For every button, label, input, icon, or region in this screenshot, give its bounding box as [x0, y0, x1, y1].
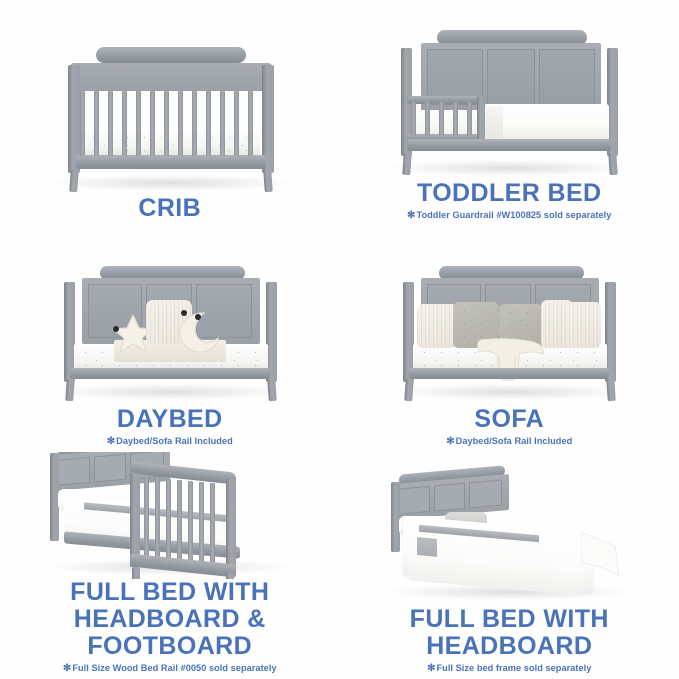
asterisk-icon: ✻	[427, 663, 435, 674]
sofa-illustration	[340, 226, 679, 406]
conversion-cell-daybed: DAYBED ✻Daybed/Sofa Rail Included	[0, 226, 340, 452]
crib-illustration	[0, 0, 340, 195]
daybed-illustration	[0, 226, 340, 406]
crib-caption: CRIB	[0, 195, 340, 226]
asterisk-icon: ✻	[63, 663, 71, 674]
conversion-cell-crib: CRIB	[0, 0, 340, 226]
toddler-bed-illustration	[340, 0, 679, 180]
conversion-chart: CRIB	[0, 0, 679, 679]
full-bed-headboard-footboard-note-text: Full Size Wood Bed Rail #0050 sold separ…	[72, 663, 276, 673]
sofa-note: ✻Daybed/Sofa Rail Included	[340, 436, 679, 449]
full-bed-headboard-illustration	[340, 452, 679, 606]
full-bed-headboard-footboard-illustration	[0, 452, 340, 579]
daybed-title: DAYBED	[0, 406, 340, 433]
conversion-cell-full-bed-headboard: FULL BED WITH HEADBOARD ✻Full Size bed f…	[340, 452, 679, 679]
full-bed-headboard-footboard-note: ✻Full Size Wood Bed Rail #0050 sold sepa…	[0, 663, 340, 676]
conversion-cell-sofa: SOFA ✻Daybed/Sofa Rail Included	[340, 226, 679, 452]
asterisk-icon: ✻	[107, 436, 115, 447]
daybed-caption: DAYBED ✻Daybed/Sofa Rail Included	[0, 406, 340, 453]
conversion-cell-toddler-bed: TODDLER BED ✻Toddler Guardrail #W100825 …	[340, 0, 679, 226]
sofa-title: SOFA	[340, 406, 679, 433]
sofa-caption: SOFA ✻Daybed/Sofa Rail Included	[340, 406, 679, 453]
moon-pillow	[174, 310, 220, 354]
sofa-pillow	[565, 302, 601, 348]
toddler-bed-caption: TODDLER BED ✻Toddler Guardrail #W100825 …	[340, 180, 679, 227]
full-bed-headboard-title: FULL BED WITH HEADBOARD	[340, 606, 679, 660]
footboard	[130, 467, 236, 571]
asterisk-icon: ✻	[446, 436, 454, 447]
daybed-note-text: Daybed/Sofa Rail Included	[116, 436, 233, 446]
full-bed-headboard-footboard-caption: FULL BED WITH HEADBOARD & FOOTBOARD ✻Ful…	[0, 579, 340, 679]
crib-title: CRIB	[0, 195, 340, 222]
conversion-cell-full-bed-headboard-footboard: FULL BED WITH HEADBOARD & FOOTBOARD ✻Ful…	[0, 452, 340, 679]
full-bed-headboard-note: ✻Full Size bed frame sold separately	[340, 663, 679, 676]
toddler-bed-title: TODDLER BED	[340, 180, 679, 207]
full-bed-headboard-caption: FULL BED WITH HEADBOARD ✻Full Size bed f…	[340, 606, 679, 679]
full-bed-headboard-footboard-title: FULL BED WITH HEADBOARD & FOOTBOARD	[0, 579, 340, 660]
sofa-note-text: Daybed/Sofa Rail Included	[456, 436, 573, 446]
full-bed-headboard-note-text: Full Size bed frame sold separately	[437, 663, 592, 673]
asterisk-icon: ✻	[407, 210, 415, 221]
toddler-bed-note: ✻Toddler Guardrail #W100825 sold separat…	[340, 210, 679, 223]
toddler-bed-note-text: Toddler Guardrail #W100825 sold separate…	[416, 210, 611, 220]
sofa-pillow	[417, 304, 457, 348]
daybed-note: ✻Daybed/Sofa Rail Included	[0, 436, 340, 449]
